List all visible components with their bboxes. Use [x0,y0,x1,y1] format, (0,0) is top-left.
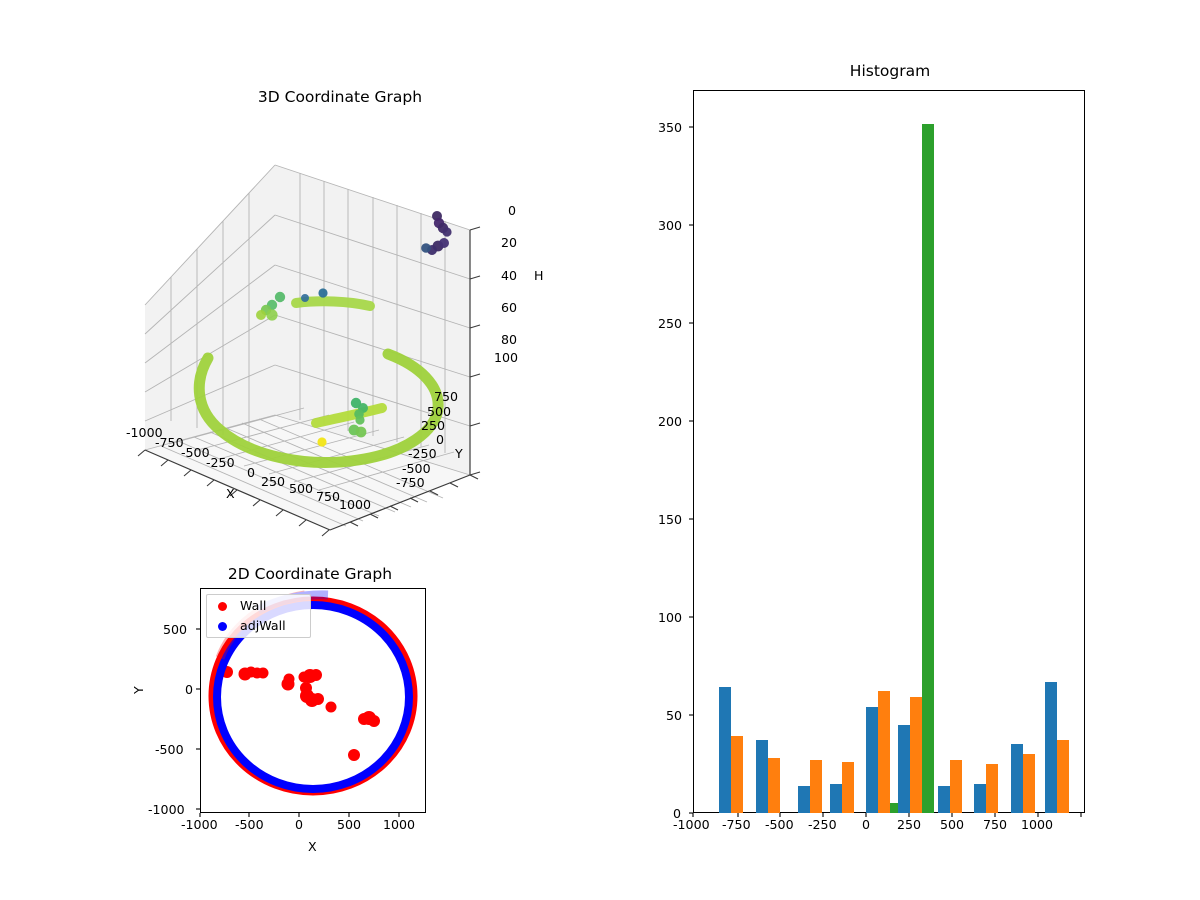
tick-hist-x--750: -750 [722,817,751,832]
tick-hist-y-0: 0 [673,806,681,821]
axis-label-2d-x: X [308,839,317,854]
axis-label-3d-h: H [534,268,543,283]
tick-3d-x-250: 250 [261,474,285,489]
tick-2d-y-0: 0 [185,682,193,697]
tick-2d-y-500: 500 [163,622,187,637]
tick-2d-y--1000: -1000 [148,802,185,817]
plot-2d-ticks [196,588,436,823]
tick-hist-y-200: 200 [658,414,682,429]
zticks-3d [470,227,480,475]
tick-3d-y--250: -250 [408,446,437,461]
matplotlib-figure: 3D Coordinate Graph [0,0,1200,900]
tick-3d-x--750: -750 [155,435,184,450]
tick-3d-y--500: -500 [402,461,431,476]
tick-hist-x--250: -250 [808,817,837,832]
tick-hist-x-0: 0 [862,817,870,832]
axis-label-3d-y: Y [455,446,463,461]
axis-label-3d-x: X [226,486,235,501]
tick-hist-y-100: 100 [658,610,682,625]
tick-3d-y-250: 250 [421,418,445,433]
tick-2d-x--1000: -1000 [181,817,218,832]
tick-3d-h-100: 100 [494,350,518,365]
tick-hist-x-250: 250 [897,817,921,832]
pane-left [145,165,275,450]
tick-hist-x-1000: 1000 [1021,817,1053,832]
tick-3d-x--250: -250 [206,455,235,470]
tick-hist-y-50: 50 [666,708,682,723]
tick-hist-x--500: -500 [765,817,794,832]
tick-hist-x-500: 500 [940,817,964,832]
tick-hist-y-350: 350 [658,120,682,135]
tick-2d-x-1000: 1000 [383,817,415,832]
tick-2d-x--500: -500 [235,817,264,832]
tick-3d-h-60: 60 [501,300,517,315]
tick-3d-h-0: 0 [508,203,516,218]
tick-3d-h-80: 80 [501,332,517,347]
panel-hist-title: Histogram [690,62,1090,80]
tick-2d-x-500: 500 [337,817,361,832]
tick-3d-h-40: 40 [501,268,517,283]
series-stray-yellow [317,437,326,446]
plot-hist-ticks [687,90,1091,822]
tick-2d-x-0: 0 [295,817,303,832]
tick-3d-y-750: 750 [434,389,458,404]
tick-hist-y-250: 250 [658,316,682,331]
tick-2d-y--500: -500 [155,742,184,757]
tick-3d-x-1000: 1000 [339,497,371,512]
panel-2d-title: 2D Coordinate Graph [145,565,475,583]
tick-3d-x-500: 500 [289,481,313,496]
axis-label-2d-y: Y [131,686,146,694]
tick-3d-h-20: 20 [501,235,517,250]
tick-3d-x-0: 0 [247,465,255,480]
tick-hist-y-300: 300 [658,218,682,233]
panel-3d-title: 3D Coordinate Graph [155,88,525,106]
tick-hist-x-750: 750 [983,817,1007,832]
tick-3d-x-750: 750 [316,489,340,504]
tick-3d-y--750: -750 [396,475,425,490]
tick-3d-y-0: 0 [436,432,444,447]
tick-hist-y-150: 150 [658,512,682,527]
tick-3d-y-500: 500 [427,404,451,419]
